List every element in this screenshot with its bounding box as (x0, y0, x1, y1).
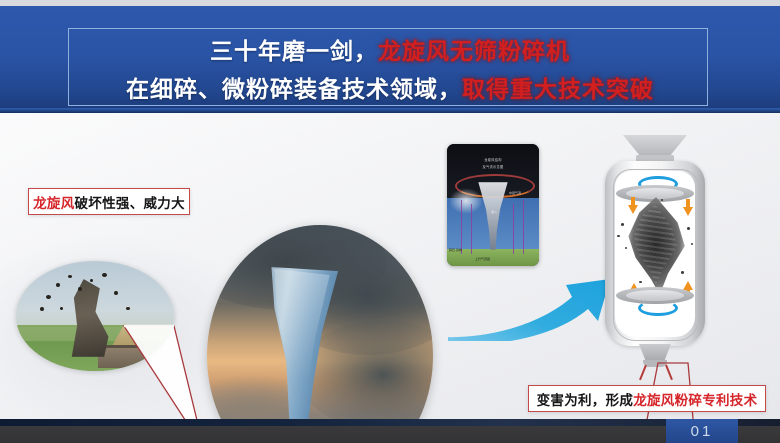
callout-left: 龙旋风破坏性强、威力大 (28, 188, 190, 215)
schematic-label-title2: 及气流示意图 (471, 165, 515, 170)
main-tornado-photo (207, 225, 433, 443)
callout-left-red: 龙旋风 (33, 192, 74, 212)
machine-particle (639, 281, 642, 283)
title-line2-red: 取得重大技术突破 (462, 76, 654, 102)
callout-right: 变害为利，形成龙旋风粉碎专利技术 (528, 385, 766, 412)
callout-right-red: 龙旋风粉碎专利技术 (633, 389, 757, 409)
machine-particle (687, 227, 690, 230)
machine-flow-arrow-stem (686, 199, 690, 209)
schematic-label-debris: 碎石·杂物 (449, 248, 462, 252)
debris-speck (56, 283, 60, 287)
debris-speck (126, 307, 130, 310)
debris-speck (114, 291, 118, 295)
schematic-label-updraft: 上升气流层 (475, 257, 490, 261)
debris-speck (40, 307, 44, 311)
machine-support-leg (665, 365, 672, 380)
schematic-label-midlayer: 中层气流 (509, 191, 521, 195)
machine-rotor-ring-bottom (638, 300, 678, 316)
damage-photo (16, 261, 174, 371)
page-number-badge: 01 (666, 419, 738, 443)
machine-particle (621, 223, 624, 226)
title-line2-white: 在细碎、微粉碎装备技术领域， (126, 76, 462, 102)
title-line-2: 在细碎、微粉碎装备技术领域，取得重大技术突破 (0, 70, 780, 104)
schematic-cloud (449, 188, 483, 214)
debris-speck (60, 307, 63, 310)
machine-particle (681, 271, 684, 274)
debris-speck (102, 273, 107, 277)
callout-right-black: 变害为利，形成 (537, 389, 634, 409)
presentation-slide: 三十年磨一剑，龙旋风无筛粉碎机 在细碎、微粉碎装备技术领域，取得重大技术突破 (0, 0, 780, 443)
machine-particle (617, 235, 620, 237)
schematic-airflow-line (513, 204, 514, 254)
schematic-label-title1: 龙卷风结构 (471, 158, 515, 163)
title-line1-white: 三十年磨一剑， (210, 38, 378, 64)
slide-bottom-navy-strip (0, 419, 780, 426)
machine-particle (661, 199, 663, 201)
title-line1-red: 龙旋风无筛粉碎机 (378, 38, 570, 64)
schematic-airflow-line (461, 200, 462, 254)
machine-flow-arrow-stem (631, 197, 635, 207)
schematic-airflow-line (523, 200, 524, 254)
slide-bottom-dark-strip (0, 426, 780, 443)
machine-discharge-cap (643, 360, 667, 367)
debris-speck (78, 287, 82, 291)
schematic-label-funnel: 漏斗 (491, 210, 497, 214)
slide-body: 龙卷风结构 及气流示意图 中层气流 漏斗 碎石·杂物 上升气流层 (0, 113, 780, 419)
title-band: 三十年磨一剑，龙旋风无筛粉碎机 在细碎、微粉碎装备技术领域，取得重大技术突破 (0, 6, 780, 113)
title-line-1: 三十年磨一剑，龙旋风无筛粉碎机 (0, 32, 780, 66)
machine-support-leg (639, 365, 646, 380)
debris-speck (68, 275, 72, 278)
debris-speck (46, 295, 51, 299)
machine-feed-hopper (623, 135, 687, 157)
schematic-airflow-line (471, 204, 472, 254)
machine-particle (625, 247, 627, 249)
pulverizer-machine-diagram (595, 135, 717, 378)
callout-left-black: 破坏性强、威力大 (75, 192, 185, 212)
tornado-schematic: 龙卷风结构 及气流示意图 中层气流 漏斗 碎石·杂物 上升气流层 (447, 144, 539, 266)
machine-particle (691, 243, 693, 245)
debris-speck (90, 279, 93, 282)
